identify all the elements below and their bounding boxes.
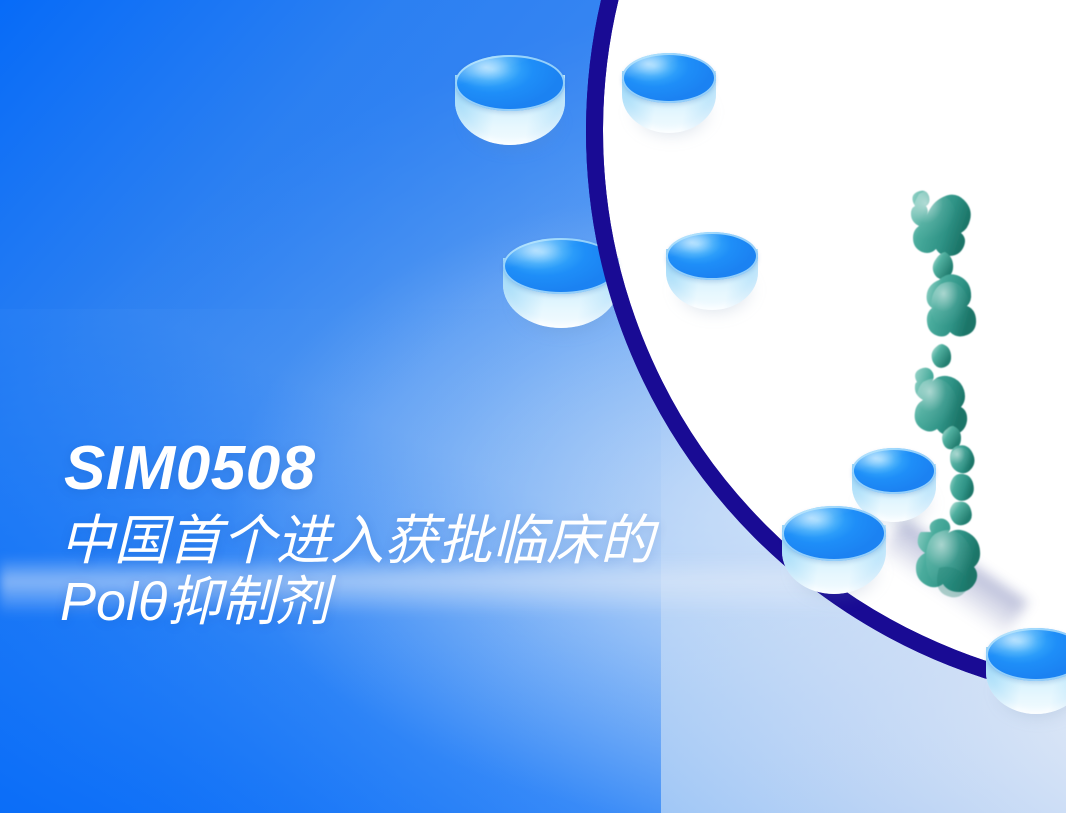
pill-bottom-right — [986, 628, 1066, 714]
pill-lower-center — [782, 506, 886, 594]
pill-top-left — [455, 55, 565, 145]
subtitle-line-1: 中国首个进入获批临床的 — [60, 510, 654, 573]
poster-canvas: SIM0508 中国首个进入获批临床的 Polθ抑制剂 — [0, 0, 1066, 813]
subtitle-line-2: Polθ抑制剂 — [60, 571, 654, 634]
pill-rim — [455, 55, 565, 111]
pill-rim — [782, 506, 886, 561]
product-name: SIM0508 — [64, 436, 654, 502]
polymerase-theta-protein-structure — [895, 168, 1017, 568]
headline-block: SIM0508 中国首个进入获批临床的 Polθ抑制剂 — [60, 436, 654, 634]
